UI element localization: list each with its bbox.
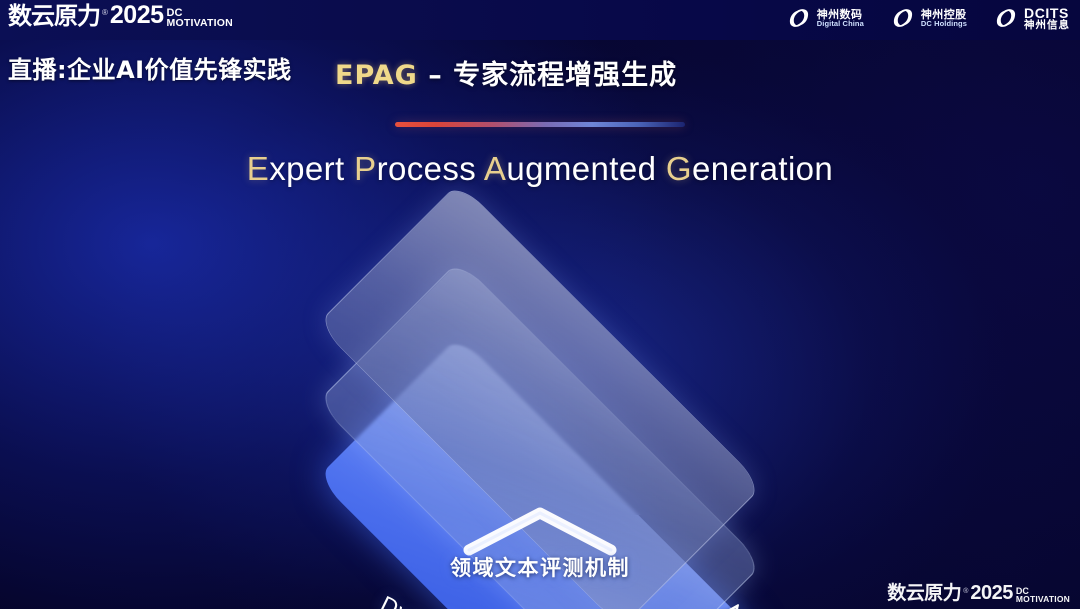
brand-logo-cn: 数云原力 [8, 4, 100, 28]
brand-dc-line2: MOTIVATION [167, 19, 233, 28]
brand-dc-motivation: DC MOTIVATION [167, 9, 233, 28]
subtitle-cap-a: A [484, 150, 506, 187]
page-title-cn: – 专家流程增强生成 [418, 60, 677, 91]
subtitle-cap-e: E [247, 150, 269, 187]
subtitle-cap-p: P [354, 150, 376, 187]
partner-logo-dc-holdings: 神州控股 DC Holdings [890, 5, 967, 31]
watermark-dc-line2: MOTIVATION [1016, 596, 1070, 603]
partner-name-cn: 神州信息 [1024, 20, 1070, 31]
watermark-registered-mark: ® [963, 588, 968, 595]
watermark-dc-motivation: DC MOTIVATION [1016, 588, 1070, 603]
watermark-year: 2025 [970, 583, 1013, 603]
brand-registered-mark: ® [102, 9, 108, 17]
subtitle-cap-g: G [666, 150, 692, 187]
layered-stack-diagram: 领域文本评测机制 Dynamic MOE 长文本记忆 三类语义建模模块 [0, 222, 1080, 562]
partner-logo-dcits: DCITS 神州信息 [993, 5, 1070, 31]
slide-canvas: 数云原力 ® 2025 DC MOTIVATION 直播:企业AI价值先锋实践 … [0, 0, 1080, 609]
partner-name-en: DCITS [1024, 6, 1070, 20]
chevron-up-icon [455, 500, 625, 560]
swirl-logo-icon [786, 5, 812, 31]
partner-name-en: Digital China [817, 20, 864, 28]
swirl-logo-icon [993, 5, 1019, 31]
subtitle-word-process: rocess [377, 150, 484, 187]
subtitle-word-generation: eneration [692, 150, 833, 187]
partner-logo-group: 神州数码 Digital China 神州控股 DC Holdings [786, 5, 1070, 31]
watermark-cn: 数云原力 [887, 584, 961, 603]
partner-name-en: DC Holdings [921, 20, 967, 28]
page-subtitle: Expert Process Augmented Generation [0, 150, 1080, 188]
gradient-divider [395, 122, 685, 127]
swirl-logo-icon [890, 5, 916, 31]
page-title-acronym: EPAG [335, 60, 418, 91]
brand-logo-year: 2025 [110, 3, 164, 28]
subtitle-word-augmented: ugmented [506, 150, 666, 187]
diagram-label-top: 领域文本评测机制 [450, 552, 630, 582]
page-title: EPAG – 专家流程增强生成 [335, 53, 677, 92]
subtitle-word-expert: xpert [269, 150, 354, 187]
footer-watermark-logo: 数云原力 ® 2025 DC MOTIVATION [887, 583, 1070, 603]
brand-logo: 数云原力 ® 2025 DC MOTIVATION [8, 3, 233, 28]
live-stream-title: 直播:企业AI价值先锋实践 [8, 50, 292, 85]
partner-logo-digital-china: 神州数码 Digital China [786, 5, 864, 31]
